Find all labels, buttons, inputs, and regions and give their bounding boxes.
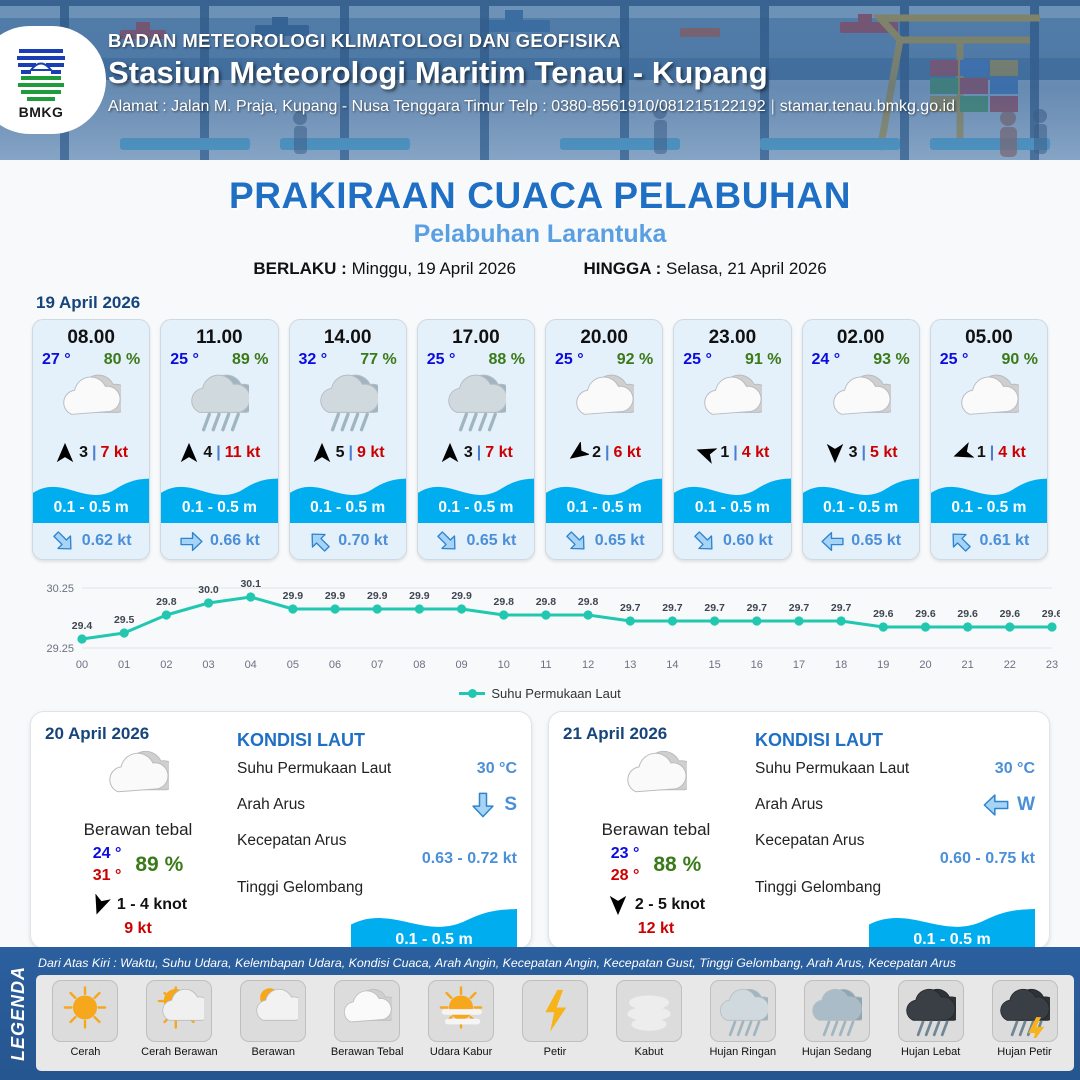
legend-item-label: Hujan Sedang xyxy=(802,1046,872,1058)
daily-condition: Berawan tebal xyxy=(45,820,231,840)
forecast-wind-row: 1 | 4 kt xyxy=(931,435,1047,471)
wave-height-row: Tinggi Gelombang xyxy=(755,877,1035,899)
address-separator: | xyxy=(771,98,775,115)
svg-text:02: 02 xyxy=(160,659,172,671)
forecast-card: 05.00 25 ° 90 % 1 | 4 kt 0.1 - 0.5 m 0.6… xyxy=(930,319,1048,560)
hujan-petir-icon xyxy=(1000,985,1050,1038)
daily-temp-max: 31 ° xyxy=(93,865,122,887)
svg-text:29.6: 29.6 xyxy=(957,608,978,620)
svg-text:21: 21 xyxy=(962,659,974,671)
svg-text:23: 23 xyxy=(1046,659,1058,671)
legend-icon-box xyxy=(522,980,588,1042)
wind-scale: 3 xyxy=(464,444,473,462)
svg-text:04: 04 xyxy=(245,659,257,671)
forecast-weather-icon xyxy=(33,369,149,435)
forecast-temperature: 25 ° xyxy=(427,351,456,369)
forecast-wave: 0.1 - 0.5 m xyxy=(931,471,1047,523)
legend-item-label: Hujan Lebat xyxy=(901,1046,960,1058)
forecast-card: 02.00 24 ° 93 % 3 | 5 kt 0.1 - 0.5 m 0.6… xyxy=(802,319,920,560)
station-address: Alamat : Jalan M. Praja, Kupang - Nusa T… xyxy=(108,98,955,116)
forecast-time: 23.00 xyxy=(674,320,790,349)
svg-text:30.25: 30.25 xyxy=(46,583,74,595)
wind-gust: 4 kt xyxy=(998,444,1026,462)
legend-item: Petir xyxy=(510,980,601,1058)
forecast-temperature: 27 ° xyxy=(42,351,71,369)
udara-kabur-icon xyxy=(436,985,486,1038)
forecast-current-row: 0.65 kt xyxy=(546,523,662,559)
daily-left: 20 April 2026 Berawan tebal 24 ° 31 ° 89… xyxy=(45,724,231,938)
wind-separator: | xyxy=(477,444,481,462)
wind-gust: 9 kt xyxy=(357,444,385,462)
hujan-sedang-icon xyxy=(812,985,862,1038)
wave-height: 0.1 - 0.5 m xyxy=(161,499,277,517)
wind-gust: 5 kt xyxy=(870,444,898,462)
berawan-icon xyxy=(248,985,298,1038)
legend-sidebar: LEGENDA xyxy=(0,947,36,1080)
current-direction-icon xyxy=(51,529,76,554)
forecast-humidity: 89 % xyxy=(232,351,268,369)
wave-height: 0.1 - 0.5 m xyxy=(803,499,919,517)
current-speed-label: Kecepatan Arus xyxy=(237,832,346,850)
forecast-temperature: 25 ° xyxy=(940,351,969,369)
wave-height: 0.1 - 0.5 m xyxy=(33,499,149,517)
wind-separator: | xyxy=(605,444,609,462)
current-direction-icon xyxy=(564,529,589,554)
kabut-icon xyxy=(624,985,674,1038)
current-speed: 0.61 kt xyxy=(979,532,1029,550)
legend-icon-box xyxy=(898,980,964,1042)
svg-text:29.8: 29.8 xyxy=(578,596,599,608)
forecast-weather-icon xyxy=(546,369,662,435)
svg-text:07: 07 xyxy=(371,659,383,671)
forecast-time: 17.00 xyxy=(418,320,534,349)
daily-temps: 24 ° 31 ° 89 % xyxy=(45,843,231,886)
forecast-wave: 0.1 - 0.5 m xyxy=(161,471,277,523)
forecast-wave: 0.1 - 0.5 m xyxy=(674,471,790,523)
legend-item-label: Berawan Tebal xyxy=(331,1046,404,1058)
current-direction-value-group: W xyxy=(982,791,1035,819)
svg-text:30.1: 30.1 xyxy=(240,578,261,590)
current-speed: 0.65 kt xyxy=(466,532,516,550)
svg-text:29.9: 29.9 xyxy=(409,590,430,602)
svg-text:06: 06 xyxy=(329,659,341,671)
forecast-weather-icon xyxy=(418,369,534,435)
wind-scale: 1 xyxy=(720,444,729,462)
cerah-berawan-icon xyxy=(154,985,204,1038)
forecast-wind-row: 5 | 9 kt xyxy=(290,435,406,471)
validity-row: BERLAKU : Minggu, 19 April 2026 HINGGA :… xyxy=(0,259,1080,279)
current-direction-value: S xyxy=(504,794,517,816)
forecast-wave: 0.1 - 0.5 m xyxy=(546,471,662,523)
wave-height: 0.1 - 0.5 m xyxy=(290,499,406,517)
daily-summary-panel: 20 April 2026 Berawan tebal 24 ° 31 ° 89… xyxy=(30,711,532,949)
legend-item-label: Petir xyxy=(544,1046,567,1058)
chart-legend: Suhu Permukaan Laut xyxy=(0,686,1080,701)
legend-footer: LEGENDA Dari Atas Kiri : Waktu, Suhu Uda… xyxy=(0,947,1080,1080)
daily-humidity: 88 % xyxy=(653,853,701,877)
daily-temp-min: 24 ° xyxy=(93,843,122,865)
hujan-ringan-icon xyxy=(718,985,768,1038)
forecast-wind-row: 1 | 4 kt xyxy=(674,435,790,471)
legend-icon-box xyxy=(240,980,306,1042)
svg-text:29.7: 29.7 xyxy=(831,602,852,614)
chart-legend-swatch xyxy=(459,692,485,695)
legend-item-label: Cerah Berawan xyxy=(141,1046,217,1058)
forecast-card-list: 08.00 27 ° 80 % 3 | 7 kt 0.1 - 0.5 m 0.6… xyxy=(0,319,1080,560)
legend-item: Berawan Tebal xyxy=(322,980,413,1058)
forecast-time: 05.00 xyxy=(931,320,1047,349)
svg-text:10: 10 xyxy=(498,659,510,671)
berawan-tebal-icon xyxy=(625,746,687,812)
svg-text:29.9: 29.9 xyxy=(367,590,388,602)
wave-height: 0.1 - 0.5 m xyxy=(674,499,790,517)
forecast-current-row: 0.60 kt xyxy=(674,523,790,559)
legend-item: Hujan Ringan xyxy=(697,980,788,1058)
wind-separator: | xyxy=(862,444,866,462)
legend-item-label: Hujan Ringan xyxy=(709,1046,776,1058)
sst-value: 30 °C xyxy=(477,760,517,778)
legend-item: Cerah Berawan xyxy=(134,980,225,1058)
wind-direction-icon xyxy=(178,442,200,464)
current-direction-row: Arah Arus W xyxy=(755,791,1035,819)
forecast-temperature: 24 ° xyxy=(812,351,841,369)
svg-text:29.9: 29.9 xyxy=(451,590,472,602)
wind-separator: | xyxy=(733,444,737,462)
berawan-tebal-icon xyxy=(959,370,1019,434)
wave-height-row: Tinggi Gelombang xyxy=(237,877,517,899)
petir-icon xyxy=(530,985,580,1038)
wind-separator: | xyxy=(92,444,96,462)
daily-date: 20 April 2026 xyxy=(45,724,231,744)
chart-legend-label: Suhu Permukaan Laut xyxy=(491,686,620,701)
legend-sidebar-label: LEGENDA xyxy=(8,966,29,1061)
forecast-wind-row: 3 | 7 kt xyxy=(33,435,149,471)
forecast-weather-icon xyxy=(803,369,919,435)
wind-gust: 11 kt xyxy=(225,444,261,462)
daily-temp-col: 24 ° 31 ° xyxy=(93,843,122,886)
sea-conditions-title: KONDISI LAUT xyxy=(237,730,517,751)
wind-gust: 7 kt xyxy=(485,444,513,462)
daily-wind-range: 2 - 5 knot xyxy=(635,896,705,914)
daily-weather-icon xyxy=(563,748,749,810)
daily-condition: Berawan tebal xyxy=(563,820,749,840)
svg-text:16: 16 xyxy=(751,659,763,671)
sea-conditions-title: KONDISI LAUT xyxy=(755,730,1035,751)
legend-body: Dari Atas Kiri : Waktu, Suhu Udara, Kele… xyxy=(36,947,1080,1080)
svg-text:13: 13 xyxy=(624,659,636,671)
daily-left: 21 April 2026 Berawan tebal 23 ° 28 ° 88… xyxy=(563,724,749,938)
forecast-time: 02.00 xyxy=(803,320,919,349)
daily-humidity: 89 % xyxy=(135,853,183,877)
wind-separator: | xyxy=(216,444,220,462)
legend-icon-box xyxy=(334,980,400,1042)
forecast-wave: 0.1 - 0.5 m xyxy=(33,471,149,523)
svg-text:29.4: 29.4 xyxy=(72,620,93,632)
valid-until-label: HINGGA : xyxy=(583,259,661,278)
wave-height-label: Tinggi Gelombang xyxy=(755,879,881,897)
sst-label: Suhu Permukaan Laut xyxy=(237,760,391,778)
svg-text:17: 17 xyxy=(793,659,805,671)
forecast-wave: 0.1 - 0.5 m xyxy=(290,471,406,523)
title-block: PRAKIRAAN CUACA PELABUHAN Pelabuhan Lara… xyxy=(0,175,1080,279)
daily-gust: 12 kt xyxy=(563,920,749,938)
wind-scale: 3 xyxy=(79,444,88,462)
legend-icon-box xyxy=(710,980,776,1042)
legend-icon-box xyxy=(804,980,870,1042)
agency-name: BADAN METEOROLOGI KLIMATOLOGI DAN GEOFIS… xyxy=(108,30,955,52)
forecast-temperature: 25 ° xyxy=(555,351,584,369)
berawan-tebal-icon xyxy=(107,746,169,812)
berawan-tebal-icon xyxy=(831,370,891,434)
legend-item: Hujan Petir xyxy=(979,980,1070,1058)
svg-text:29.8: 29.8 xyxy=(494,596,515,608)
wind-scale: 1 xyxy=(977,444,986,462)
forecast-card: 08.00 27 ° 80 % 3 | 7 kt 0.1 - 0.5 m 0.6… xyxy=(32,319,150,560)
legend-icon-box xyxy=(146,980,212,1042)
wind-direction-icon xyxy=(695,442,717,464)
forecast-card: 20.00 25 ° 92 % 2 | 6 kt 0.1 - 0.5 m 0.6… xyxy=(545,319,663,560)
wave-height: 0.1 - 0.5 m xyxy=(546,499,662,517)
legend-item: Hujan Lebat xyxy=(885,980,976,1058)
forecast-weather-icon xyxy=(674,369,790,435)
legend-icon-box xyxy=(52,980,118,1042)
forecast-wind-row: 4 | 11 kt xyxy=(161,435,277,471)
berawan-tebal-icon xyxy=(702,370,762,434)
daily-temp-max: 28 ° xyxy=(611,865,640,887)
svg-text:29.6: 29.6 xyxy=(1000,608,1021,620)
page-title: PRAKIRAAN CUACA PELABUHAN xyxy=(0,175,1080,217)
wind-direction-icon xyxy=(311,442,333,464)
current-speed-row: Kecepatan Arus xyxy=(755,830,1035,852)
berawan-tebal-icon xyxy=(342,985,392,1038)
svg-text:29.8: 29.8 xyxy=(156,596,177,608)
forecast-weather-icon xyxy=(161,369,277,435)
current-speed-row: Kecepatan Arus xyxy=(237,830,517,852)
legend-item-label: Kabut xyxy=(635,1046,664,1058)
address-text: Alamat : Jalan M. Praja, Kupang - Nusa T… xyxy=(108,98,766,115)
wind-direction-icon xyxy=(54,442,76,464)
svg-text:29.6: 29.6 xyxy=(873,608,894,620)
sst-row: Suhu Permukaan Laut 30 °C xyxy=(755,758,1035,780)
current-speed-value: 0.60 - 0.75 kt xyxy=(755,850,1035,868)
hujan-ringan-icon xyxy=(189,370,249,434)
forecast-current-row: 0.66 kt xyxy=(161,523,277,559)
wave-height: 0.1 - 0.5 m xyxy=(418,499,534,517)
current-direction-icon xyxy=(307,529,332,554)
current-direction-label: Arah Arus xyxy=(755,796,823,814)
daily-weather-icon xyxy=(45,748,231,810)
svg-text:29.6: 29.6 xyxy=(1042,608,1060,620)
forecast-wind-row: 3 | 7 kt xyxy=(418,435,534,471)
forecast-current-row: 0.70 kt xyxy=(290,523,406,559)
forecast-humidity: 90 % xyxy=(1002,351,1038,369)
svg-text:11: 11 xyxy=(540,659,551,671)
sst-row: Suhu Permukaan Laut 30 °C xyxy=(237,758,517,780)
daily-gust: 9 kt xyxy=(45,920,231,938)
forecast-temperature: 25 ° xyxy=(683,351,712,369)
website-text: stamar.tenau.bmkg.go.id xyxy=(780,98,955,115)
wind-direction-icon xyxy=(952,442,974,464)
sst-value: 30 °C xyxy=(995,760,1035,778)
legend-item: Berawan xyxy=(228,980,319,1058)
forecast-current-row: 0.61 kt xyxy=(931,523,1047,559)
forecast-wave: 0.1 - 0.5 m xyxy=(418,471,534,523)
daily-summary-list: 20 April 2026 Berawan tebal 24 ° 31 ° 89… xyxy=(0,701,1080,949)
forecast-humidity: 88 % xyxy=(489,351,525,369)
header-text-group: BADAN METEOROLOGI KLIMATOLOGI DAN GEOFIS… xyxy=(108,30,955,116)
current-direction-icon xyxy=(982,791,1010,819)
svg-text:01: 01 xyxy=(118,659,130,671)
forecast-card: 11.00 25 ° 89 % 4 | 11 kt 0.1 - 0.5 m 0.… xyxy=(160,319,278,560)
wind-gust: 6 kt xyxy=(614,444,642,462)
svg-text:29.9: 29.9 xyxy=(325,590,346,602)
wind-separator: | xyxy=(349,444,353,462)
legend-item: Udara Kabur xyxy=(416,980,507,1058)
sst-chart-svg: 30.2529.2529.40029.50129.80230.00330.104… xyxy=(20,572,1060,682)
wind-direction-icon xyxy=(439,442,461,464)
valid-until-value: Selasa, 21 April 2026 xyxy=(666,259,827,278)
svg-text:29.7: 29.7 xyxy=(662,602,683,614)
svg-text:20: 20 xyxy=(919,659,931,671)
sst-label: Suhu Permukaan Laut xyxy=(755,760,909,778)
forecast-temperature: 32 ° xyxy=(299,351,328,369)
wind-scale: 3 xyxy=(849,444,858,462)
svg-text:09: 09 xyxy=(455,659,467,671)
legend-item: Kabut xyxy=(603,980,694,1058)
forecast-date-label: 19 April 2026 xyxy=(36,293,1080,313)
forecast-humidity: 92 % xyxy=(617,351,653,369)
svg-text:05: 05 xyxy=(287,659,299,671)
wind-scale: 2 xyxy=(592,444,601,462)
svg-text:30.0: 30.0 xyxy=(198,584,219,596)
svg-text:03: 03 xyxy=(202,659,214,671)
svg-text:00: 00 xyxy=(76,659,88,671)
svg-text:29.7: 29.7 xyxy=(747,602,768,614)
svg-text:29.25: 29.25 xyxy=(46,643,74,655)
current-speed: 0.65 kt xyxy=(851,532,901,550)
sst-chart: 30.2529.2529.40029.50129.80230.00330.104… xyxy=(20,572,1060,682)
forecast-humidity: 77 % xyxy=(360,351,396,369)
bmkg-emblem-icon xyxy=(11,41,71,103)
current-direction-value: W xyxy=(1017,794,1035,816)
forecast-card: 23.00 25 ° 91 % 1 | 4 kt 0.1 - 0.5 m 0.6… xyxy=(673,319,791,560)
wind-separator: | xyxy=(990,444,994,462)
svg-text:18: 18 xyxy=(835,659,847,671)
hujan-ringan-icon xyxy=(318,370,378,434)
forecast-humidity: 91 % xyxy=(745,351,781,369)
wave-height-label: Tinggi Gelombang xyxy=(237,879,363,897)
daily-date: 21 April 2026 xyxy=(563,724,749,744)
forecast-card: 14.00 32 ° 77 % 5 | 9 kt 0.1 - 0.5 m 0.7… xyxy=(289,319,407,560)
current-speed: 0.62 kt xyxy=(82,532,132,550)
legend-item: Cerah xyxy=(40,980,131,1058)
current-direction-icon xyxy=(820,529,845,554)
legend-icon-box xyxy=(992,980,1058,1042)
current-speed: 0.66 kt xyxy=(210,532,260,550)
hujan-ringan-icon xyxy=(446,370,506,434)
current-speed: 0.70 kt xyxy=(338,532,388,550)
forecast-humidity: 93 % xyxy=(873,351,909,369)
svg-text:22: 22 xyxy=(1004,659,1016,671)
forecast-wave: 0.1 - 0.5 m xyxy=(803,471,919,523)
svg-text:19: 19 xyxy=(877,659,889,671)
page-header: BMKG BADAN METEOROLOGI KLIMATOLOGI DAN G… xyxy=(0,0,1080,160)
forecast-current-row: 0.62 kt xyxy=(33,523,149,559)
forecast-time: 14.00 xyxy=(290,320,406,349)
svg-text:29.6: 29.6 xyxy=(915,608,936,620)
current-speed-label: Kecepatan Arus xyxy=(755,832,864,850)
daily-temp-col: 23 ° 28 ° xyxy=(611,843,640,886)
wind-gust: 4 kt xyxy=(742,444,770,462)
page-subtitle: Pelabuhan Larantuka xyxy=(0,220,1080,249)
forecast-time: 20.00 xyxy=(546,320,662,349)
daily-sea-conditions: KONDISI LAUT Suhu Permukaan Laut 30 °C A… xyxy=(231,724,517,938)
svg-text:29.5: 29.5 xyxy=(114,614,135,626)
daily-wind-row: 1 - 4 knot xyxy=(45,894,231,916)
wind-scale: 5 xyxy=(336,444,345,462)
wind-direction-icon xyxy=(567,442,589,464)
forecast-wind-row: 2 | 6 kt xyxy=(546,435,662,471)
current-direction-label: Arah Arus xyxy=(237,796,305,814)
legend-item-label: Cerah xyxy=(70,1046,100,1058)
valid-from-value: Minggu, 19 April 2026 xyxy=(352,259,516,278)
bmkg-logo-text: BMKG xyxy=(19,104,64,120)
valid-from-label: BERLAKU : xyxy=(253,259,347,278)
svg-text:29.8: 29.8 xyxy=(536,596,557,608)
current-direction-icon xyxy=(692,529,717,554)
daily-sea-conditions: KONDISI LAUT Suhu Permukaan Laut 30 °C A… xyxy=(749,724,1035,938)
current-speed-value: 0.63 - 0.72 kt xyxy=(237,850,517,868)
current-speed: 0.60 kt xyxy=(723,532,773,550)
berawan-tebal-icon xyxy=(61,370,121,434)
wave-height: 0.1 - 0.5 m xyxy=(931,499,1047,517)
legend-icon-box xyxy=(428,980,494,1042)
daily-wind-row: 2 - 5 knot xyxy=(563,894,749,916)
legend-item-label: Hujan Petir xyxy=(997,1046,1051,1058)
hujan-lebat-icon xyxy=(906,985,956,1038)
svg-text:29.7: 29.7 xyxy=(789,602,810,614)
svg-text:08: 08 xyxy=(413,659,425,671)
berawan-tebal-icon xyxy=(574,370,634,434)
wind-gust: 7 kt xyxy=(101,444,129,462)
cerah-icon xyxy=(60,985,110,1038)
current-direction-icon xyxy=(179,529,204,554)
wind-scale: 4 xyxy=(203,444,212,462)
daily-temps: 23 ° 28 ° 88 % xyxy=(563,843,749,886)
daily-summary-panel: 21 April 2026 Berawan tebal 23 ° 28 ° 88… xyxy=(548,711,1050,949)
svg-text:29.9: 29.9 xyxy=(283,590,304,602)
forecast-current-row: 0.65 kt xyxy=(418,523,534,559)
legend-item-list: Cerah Cerah Berawan Berawan Berawan Teba… xyxy=(36,975,1074,1071)
legend-item: Hujan Sedang xyxy=(791,980,882,1058)
daily-temp-min: 23 ° xyxy=(611,843,640,865)
forecast-weather-icon xyxy=(931,369,1047,435)
bmkg-logo: BMKG xyxy=(0,26,106,134)
station-name: Stasiun Meteorologi Maritim Tenau - Kupa… xyxy=(108,55,955,91)
svg-text:12: 12 xyxy=(582,659,594,671)
forecast-time: 08.00 xyxy=(33,320,149,349)
forecast-humidity: 80 % xyxy=(104,351,140,369)
svg-text:15: 15 xyxy=(708,659,720,671)
current-direction-icon xyxy=(469,791,497,819)
legend-icon-box xyxy=(616,980,682,1042)
wind-direction-icon xyxy=(824,442,846,464)
svg-text:14: 14 xyxy=(666,659,678,671)
daily-wind-range: 1 - 4 knot xyxy=(117,896,187,914)
current-direction-icon xyxy=(435,529,460,554)
wind-direction-icon xyxy=(607,894,629,916)
wind-direction-icon xyxy=(89,894,111,916)
